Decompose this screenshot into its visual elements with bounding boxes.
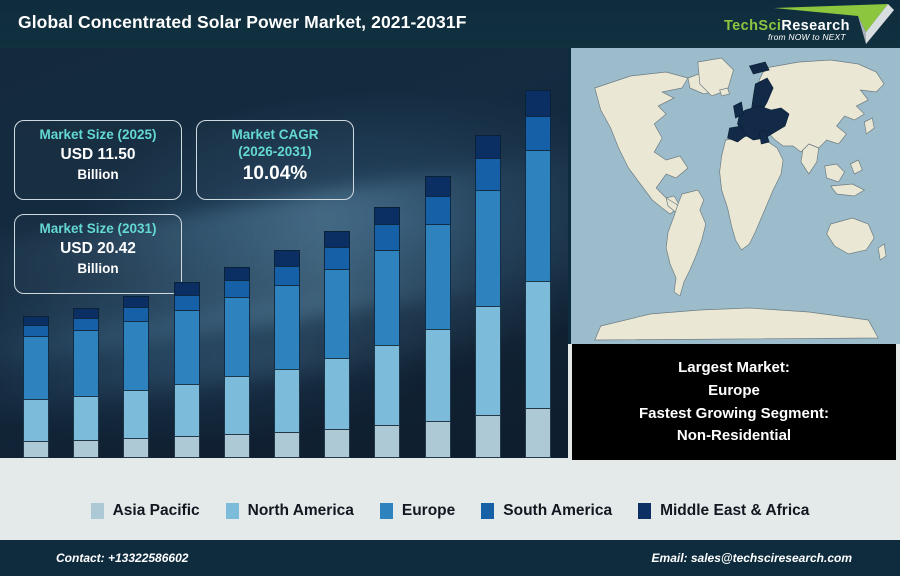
legend-item[interactable]: Europe <box>380 502 455 520</box>
stacked-bar[interactable] <box>425 176 451 458</box>
bar-segment[interactable] <box>475 135 501 158</box>
logo-tagline: from NOW to NEXT <box>768 32 846 42</box>
legend-item[interactable]: South America <box>481 502 612 520</box>
bar-segment[interactable] <box>525 281 551 408</box>
bar-segment[interactable] <box>274 432 300 458</box>
bar-segment[interactable] <box>123 321 149 390</box>
bar-segment[interactable] <box>23 336 49 399</box>
bar-group[interactable]: 2021 <box>23 70 49 458</box>
stacked-bar[interactable] <box>123 296 149 458</box>
legend-swatch-icon <box>380 503 393 519</box>
footer-email[interactable]: Email: sales@techsciresearch.com <box>652 551 852 565</box>
bar-segment[interactable] <box>374 425 400 457</box>
world-map-svg <box>571 48 900 344</box>
bar-segment[interactable] <box>525 90 551 116</box>
bar-segment[interactable] <box>73 440 99 458</box>
stacked-bar[interactable] <box>475 135 501 458</box>
legend-label: Asia Pacific <box>113 502 200 520</box>
bar-segment[interactable] <box>23 441 49 458</box>
bar-segment[interactable] <box>324 429 350 458</box>
bar-segment[interactable] <box>174 384 200 436</box>
legend-swatch-icon <box>638 503 651 519</box>
stacked-bar[interactable] <box>324 231 350 458</box>
bar-segment[interactable] <box>525 408 551 458</box>
bar-segment[interactable] <box>374 207 400 224</box>
footer-bar: Contact: +13322586602 Email: sales@techs… <box>0 540 900 576</box>
legend-swatch-icon <box>226 503 239 519</box>
bar-segment[interactable] <box>123 296 149 307</box>
stacked-bar[interactable] <box>224 267 250 458</box>
chart-panel: Market Size (2025) USD 11.50 Billion Mar… <box>0 48 568 480</box>
stacked-bar[interactable] <box>374 207 400 458</box>
bar-group[interactable]: 2031F <box>525 70 551 458</box>
bar-group[interactable]: 2029F <box>425 70 451 458</box>
bar-segment[interactable] <box>23 325 49 336</box>
legend-label: North America <box>248 502 354 520</box>
bar-group[interactable]: 2030F <box>475 70 501 458</box>
bar-segment[interactable] <box>73 308 99 318</box>
bar-segment[interactable] <box>174 295 200 310</box>
bar-segment[interactable] <box>525 116 551 151</box>
bar-segment[interactable] <box>324 269 350 358</box>
bar-segment[interactable] <box>224 376 250 434</box>
fastest-segment-value: Non-Residential <box>677 425 791 447</box>
bar-group[interactable]: 2023 <box>123 70 149 458</box>
bar-group[interactable]: 2024 <box>174 70 200 458</box>
header-bar: Global Concentrated Solar Power Market, … <box>0 0 900 48</box>
legend-swatch-icon <box>91 503 104 519</box>
bar-segment[interactable] <box>174 282 200 295</box>
x-axis-strip <box>0 458 568 480</box>
legend-item[interactable]: Middle East & Africa <box>638 502 809 520</box>
bar-segment[interactable] <box>123 438 149 458</box>
chart-legend: Asia PacificNorth AmericaEuropeSouth Ame… <box>0 490 900 532</box>
bar-segment[interactable] <box>73 318 99 330</box>
bar-segment[interactable] <box>174 310 200 384</box>
bar-group[interactable]: 2025 <box>224 70 250 458</box>
bar-segment[interactable] <box>224 434 250 458</box>
bar-group[interactable]: 2022 <box>73 70 99 458</box>
bar-segment[interactable] <box>274 285 300 369</box>
legend-item[interactable]: Asia Pacific <box>91 502 200 520</box>
bar-segment[interactable] <box>73 330 99 396</box>
bar-group[interactable]: 2027F <box>324 70 350 458</box>
bar-group[interactable]: 2026E <box>274 70 300 458</box>
bar-segment[interactable] <box>274 369 300 432</box>
bar-segment[interactable] <box>475 190 501 306</box>
bar-segment[interactable] <box>425 329 451 421</box>
stacked-bar[interactable] <box>274 250 300 458</box>
legend-label: Europe <box>402 502 455 520</box>
bar-segment[interactable] <box>324 247 350 270</box>
bar-segment[interactable] <box>475 306 501 414</box>
stacked-bar[interactable] <box>73 308 99 458</box>
bar-segment[interactable] <box>425 176 451 196</box>
bar-segment[interactable] <box>324 358 350 428</box>
bar-segment[interactable] <box>23 399 49 441</box>
bar-segment[interactable] <box>425 421 451 458</box>
legend-item[interactable]: North America <box>226 502 354 520</box>
bar-segment[interactable] <box>123 390 149 438</box>
bar-segment[interactable] <box>123 307 149 321</box>
bar-group[interactable]: 2028F <box>374 70 400 458</box>
stacked-bar[interactable] <box>174 282 200 458</box>
footer-contact[interactable]: Contact: +13322586602 <box>56 551 188 565</box>
largest-market-value: Europe <box>708 380 760 402</box>
bar-segment[interactable] <box>73 396 99 440</box>
fastest-segment-label: Fastest Growing Segment: <box>639 403 829 425</box>
legend-label: South America <box>503 502 612 520</box>
legend-swatch-icon <box>481 503 494 519</box>
techsci-logo[interactable]: TechSciResearch from NOW to NEXT <box>716 2 896 46</box>
bar-segment[interactable] <box>425 196 451 224</box>
bar-segment[interactable] <box>174 436 200 458</box>
bar-segment[interactable] <box>224 280 250 297</box>
bar-segment[interactable] <box>224 267 250 281</box>
bar-segment[interactable] <box>324 231 350 247</box>
bar-segment[interactable] <box>475 415 501 458</box>
largest-market-label: Largest Market: <box>678 357 790 379</box>
bar-segment[interactable] <box>224 297 250 375</box>
bar-segment[interactable] <box>23 316 49 325</box>
stacked-bar[interactable] <box>525 90 551 459</box>
bar-segment[interactable] <box>274 266 300 285</box>
bar-segment[interactable] <box>425 224 451 329</box>
bar-segment[interactable] <box>475 158 501 190</box>
bar-segment[interactable] <box>525 150 551 281</box>
infographic-root: Global Concentrated Solar Power Market, … <box>0 0 900 576</box>
bar-segment[interactable] <box>274 250 300 265</box>
bar-segment[interactable] <box>374 345 400 425</box>
legend-label: Middle East & Africa <box>660 502 809 520</box>
stacked-bar[interactable] <box>23 316 49 458</box>
stacked-bar-chart: 202120222023202420252026E2027F2028F2029F… <box>0 48 568 480</box>
key-findings-box: Largest Market: Europe Fastest Growing S… <box>572 344 896 460</box>
bar-segment[interactable] <box>374 224 400 249</box>
bar-segment[interactable] <box>374 250 400 346</box>
page-title: Global Concentrated Solar Power Market, … <box>18 12 467 33</box>
world-map <box>568 48 900 344</box>
